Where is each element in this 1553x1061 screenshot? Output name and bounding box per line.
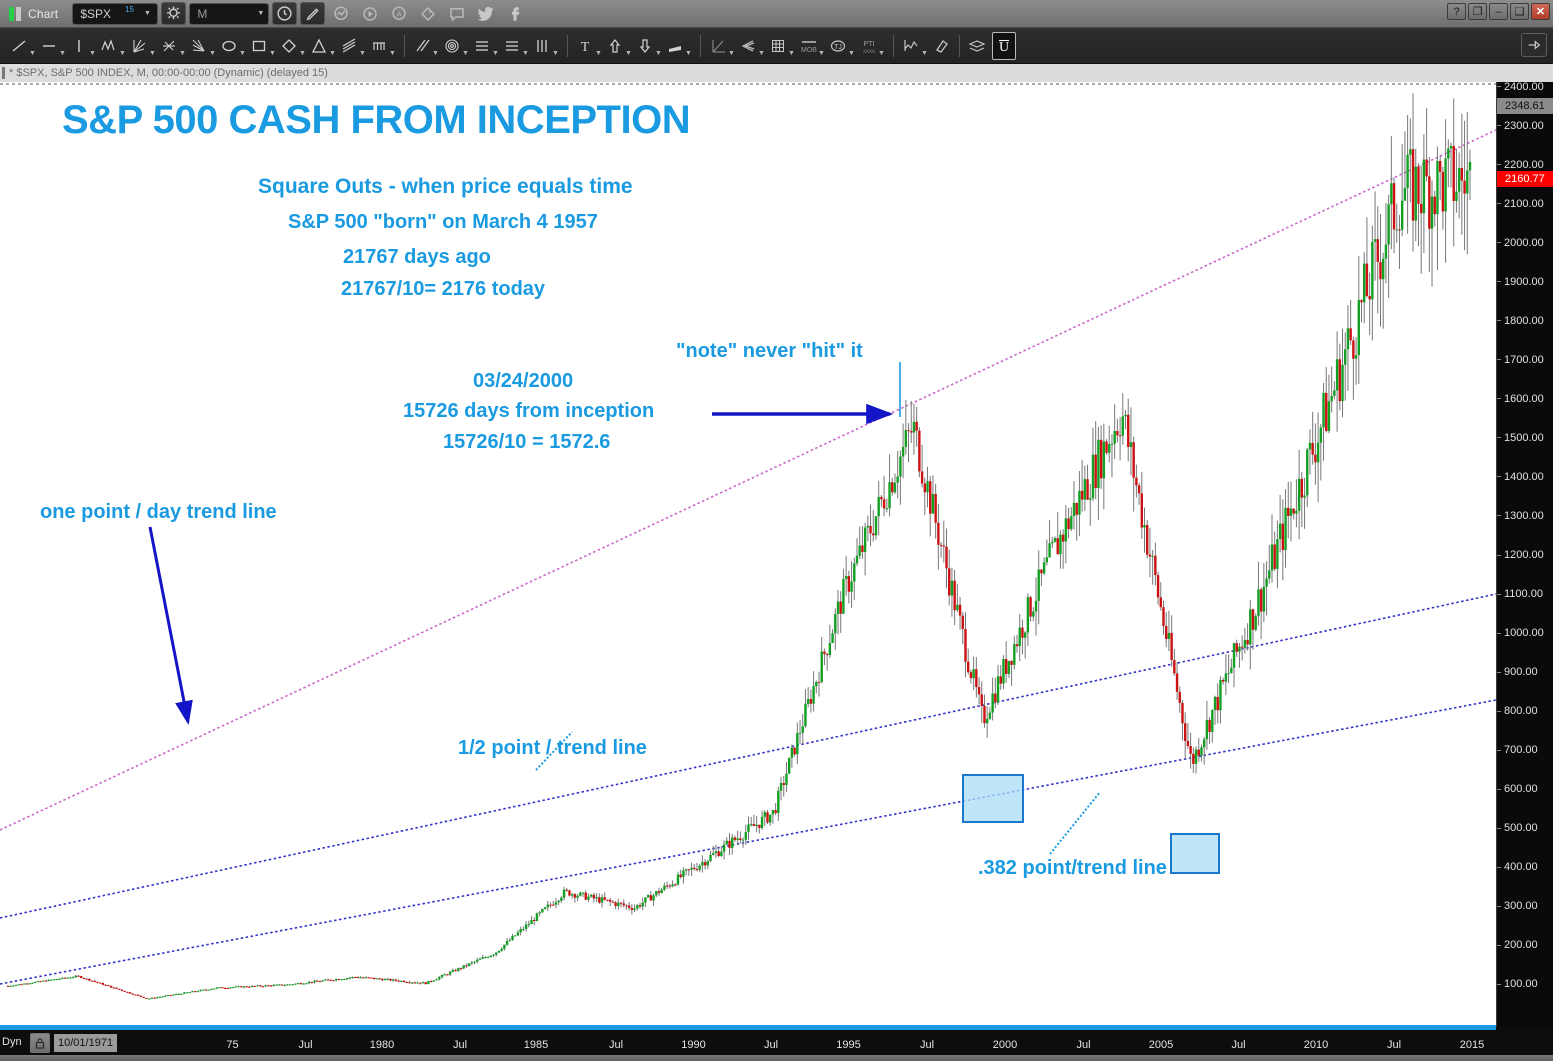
ellipse-icon [219,36,239,56]
arrow-left-tool[interactable]: ▼ [737,32,766,60]
pti-icon: PTIxxxx [858,36,878,56]
horizontal-line-tool[interactable]: ▼ [38,32,67,60]
horizontal-bands-icon [472,36,492,56]
parallel-channel-tool[interactable]: ▼ [338,32,367,60]
tj-icon: TJ [828,36,848,56]
time-tick: 2010 [1304,1039,1328,1051]
rectangle-tool[interactable]: ▼ [248,32,277,60]
candlestick-series [7,93,1471,999]
arrow-down-icon [635,36,655,56]
symbol-delay-badge: 15 [125,5,134,14]
grid-icon [768,36,788,56]
pti-tool[interactable]: PTIxxxx▼ [857,32,886,60]
ellipse-tool[interactable]: ▼ [218,32,247,60]
fibonacci-icon [159,36,179,56]
time-tick: Jul [453,1039,467,1051]
gann-angle-icon [708,36,728,56]
note-icon [665,36,685,56]
price-series-svg [0,82,1496,1027]
text-tool[interactable]: T▼ [574,32,603,60]
note-tool[interactable]: ▼ [664,32,693,60]
trendline-one-point-day [0,130,1496,830]
zigzag-icon [99,36,119,56]
lock-icon[interactable] [30,1033,50,1053]
tj-tool[interactable]: TJ▼ [827,32,856,60]
date-2000-annotation: 03/24/2000 [473,370,573,393]
fan-lines-tool[interactable]: ▼ [188,32,217,60]
triangle-tool[interactable]: ▼ [308,32,337,60]
eraser-tool[interactable] [930,32,952,60]
dyn-button[interactable]: Dyn [2,1036,22,1048]
days-inception-annotation: 15726 days from inception [403,400,654,423]
price-tick: 800.00 [1497,705,1553,718]
price-tick: 300.00 [1497,900,1553,913]
window-controls: ? ❐ – ❑ ✕ [1447,3,1550,20]
vertical-bands-icon [532,36,552,56]
vertical-bands-tool[interactable]: ▼ [531,32,560,60]
arrow-left-icon [738,36,758,56]
triangle-icon [309,36,329,56]
svg-text:T: T [581,40,590,55]
price-tick: 1900.00 [1497,275,1553,288]
half-point-label: 1/2 point / trend line [458,737,647,760]
last-price-badge: 2160.77 [1497,171,1553,187]
zigzag-tool[interactable]: ▼ [98,32,127,60]
time-tick: Jul [920,1039,934,1051]
drawing-toolbar: ▼ ▼ ▼ ▼ ▼ ▼ ▼ ▼ ▼ ▼ ▼ ▼ ▼ ▼ ▼ ▼ ▼ ▼ T▼ ▼… [0,28,1553,64]
price-tick: 1200.00 [1497,549,1553,562]
polyline-tool[interactable]: ▼ [900,32,929,60]
note-never-hit-annotation: "note" never "hit" it [676,340,863,363]
comment-icon[interactable] [444,2,470,25]
price-tick: 200.00 [1497,939,1553,952]
subtitle-annotation: Square Outs - when price equals time [258,175,633,199]
magnet-tool[interactable]: U [992,32,1016,60]
symbol-settings-icon[interactable] [161,2,186,25]
time-tick: Jul [1231,1039,1245,1051]
maximize-button[interactable]: ❑ [1510,3,1529,20]
retracement-tool[interactable]: ▼ [501,32,530,60]
gann-angle-tool[interactable]: ▼ [707,32,736,60]
today-value-annotation: 21767/10= 2176 today [341,278,545,301]
window-bottom-strip [0,1055,1553,1061]
toolbar-divider [700,35,701,57]
chevron-down-icon[interactable]: ▼ [144,10,151,17]
point-382-label: .382 point/trend line [978,857,1167,880]
time-tick: Jul [1076,1039,1090,1051]
playback-icon[interactable] [357,2,383,25]
price-tick: 2100.00 [1497,197,1553,210]
restore-button[interactable]: ❐ [1468,3,1487,20]
price-tick: 100.00 [1497,978,1553,991]
trendline-382-point [0,700,1496,984]
symbol-value: $SPX [80,7,111,21]
time-tick: Jul [764,1039,778,1051]
price-tick: 1100.00 [1497,588,1553,601]
one-point-day-label: one point / day trend line [40,501,277,524]
chart-info-bar: * $SPX, S&P 500 INDEX, M, 00:00-00:00 (D… [0,64,1553,82]
retracement-icon [502,36,522,56]
chevron-down-icon[interactable]: ▼ [257,10,264,17]
start-date-input[interactable]: 10/01/1971 [54,1034,117,1052]
concentric-circles-tool[interactable]: ▼ [441,32,470,60]
svg-text:A: A [397,9,402,18]
chart-title-annotation: S&P 500 CASH FROM INCEPTION [62,98,690,143]
facebook-icon[interactable] [502,2,528,25]
svg-text:MOB: MOB [801,47,817,54]
price-tick: 400.00 [1497,861,1553,874]
title-bar: Chart $SPX 15 ▼ M ▼ A [0,0,1553,28]
time-tick: Jul [1387,1039,1401,1051]
vertical-line-tool[interactable]: ▼ [68,32,97,60]
layers-icon [967,36,987,56]
concentric-circles-icon [442,36,462,56]
leader-382-point [1050,792,1100,854]
tag-icon[interactable] [415,2,441,25]
trendline-tool[interactable]: ▼ [8,32,37,60]
fan-lines-icon [189,36,209,56]
price-tick: 1700.00 [1497,353,1553,366]
eraser-icon [931,36,951,56]
time-tick: 2000 [993,1039,1017,1051]
price-tick: 2200.00 [1497,158,1553,171]
price-tick: 900.00 [1497,666,1553,679]
time-tick: 1985 [524,1039,548,1051]
close-button[interactable]: ✕ [1531,3,1550,20]
all-time-high-badge: 2348.61 [1497,98,1553,114]
price-tick: 2300.00 [1497,119,1553,132]
price-tick: 1500.00 [1497,431,1553,444]
gann-fan-icon [129,36,149,56]
time-tick: 75 [226,1039,238,1051]
app-logo-icon [6,4,26,24]
gann-fan-tool[interactable]: ▼ [128,32,157,60]
pitchfork-icon [369,36,389,56]
price-tick: 600.00 [1497,783,1553,796]
time-tick: Jul [298,1039,312,1051]
help-button[interactable]: ? [1447,3,1466,20]
time-axis-topline [0,1027,1496,1030]
magnet-icon: U [994,36,1014,56]
square-out-box-2002 [963,775,1023,822]
polyline-icon [901,36,921,56]
mob-tool[interactable]: MOB▼ [797,32,826,60]
leader-one-point-day [150,527,188,722]
square-out-box-2009 [1171,834,1219,873]
up-arrow-tool[interactable]: ▼ [604,32,633,60]
price-tick: 2000.00 [1497,236,1553,249]
svg-text:xxxx: xxxx [863,49,875,55]
days-ago-annotation: 21767 days ago [343,246,491,269]
chart-info-text: * $SPX, S&P 500 INDEX, M, 00:00-00:00 (D… [9,67,328,79]
regression-channel-icon [412,36,432,56]
mob-icon: MOB [798,36,818,56]
price-tick: 1600.00 [1497,392,1553,405]
time-tick: 2005 [1149,1039,1173,1051]
pin-toolbar-button[interactable] [1521,33,1547,57]
trendline-icon [9,36,29,56]
draw-pencil-icon[interactable] [300,2,325,25]
svg-text:PTI: PTI [864,41,875,48]
division-annotation: 15726/10 = 1572.6 [443,431,610,454]
rectangle-icon [249,36,269,56]
svg-text:U: U [999,40,1009,55]
time-tick: 1995 [836,1039,860,1051]
pitchfork-tool[interactable]: ▼ [368,32,397,60]
time-tick: 1990 [681,1039,705,1051]
toolbar-divider [567,35,568,57]
time-tick: 2015 [1460,1039,1484,1051]
price-axis[interactable]: 100.00200.00300.00400.00500.00600.00700.… [1496,82,1553,1027]
regression-channel-tool[interactable]: ▼ [411,32,440,60]
text-icon: T [575,36,595,56]
grid-tool[interactable]: ▼ [767,32,796,60]
minimize-button[interactable]: – [1489,3,1508,20]
fibonacci-tool[interactable]: ▼ [158,32,187,60]
layers-tool[interactable] [966,32,988,60]
time-template-icon[interactable] [272,2,297,25]
price-tick: 2400.00 [1497,80,1553,93]
trendline-half-point [0,594,1496,918]
price-tick: 1400.00 [1497,470,1553,483]
price-tick: 700.00 [1497,744,1553,757]
toolbar-divider [959,35,960,57]
horizontal-bands-tool[interactable]: ▼ [471,32,500,60]
toolbar-divider [893,35,894,57]
horizontal-line-icon [39,36,59,56]
study-icon[interactable] [328,2,354,25]
born-date-annotation: S&P 500 "born" on March 4 1957 [288,211,598,234]
price-tick: 1800.00 [1497,314,1553,327]
diamond-tool[interactable]: ▼ [278,32,307,60]
symbol-input[interactable]: $SPX 15 ▼ [72,3,158,25]
price-tick: 1300.00 [1497,509,1553,522]
info-marker-icon [2,67,5,79]
esignal-chart-window: Chart $SPX 15 ▼ M ▼ A [0,0,1553,1061]
interval-input[interactable]: M ▼ [189,3,269,25]
price-tick: 1000.00 [1497,627,1553,640]
arrow-up-icon [605,36,625,56]
time-tick: 1980 [370,1039,394,1051]
twitter-icon[interactable] [473,2,499,25]
chart-plot-area[interactable]: S&P 500 CASH FROM INCEPTION Square Outs … [0,82,1496,1027]
toolbar-divider [404,35,405,57]
svg-text:TJ: TJ [834,44,842,51]
alert-icon[interactable]: A [386,2,412,25]
time-tick: Jul [609,1039,623,1051]
app-title: Chart [28,7,58,21]
interval-value: M [197,7,207,21]
down-arrow-tool[interactable]: ▼ [634,32,663,60]
price-tick: 500.00 [1497,822,1553,835]
vertical-line-icon [69,36,89,56]
diamond-icon [279,36,299,56]
parallel-channel-icon [339,36,359,56]
